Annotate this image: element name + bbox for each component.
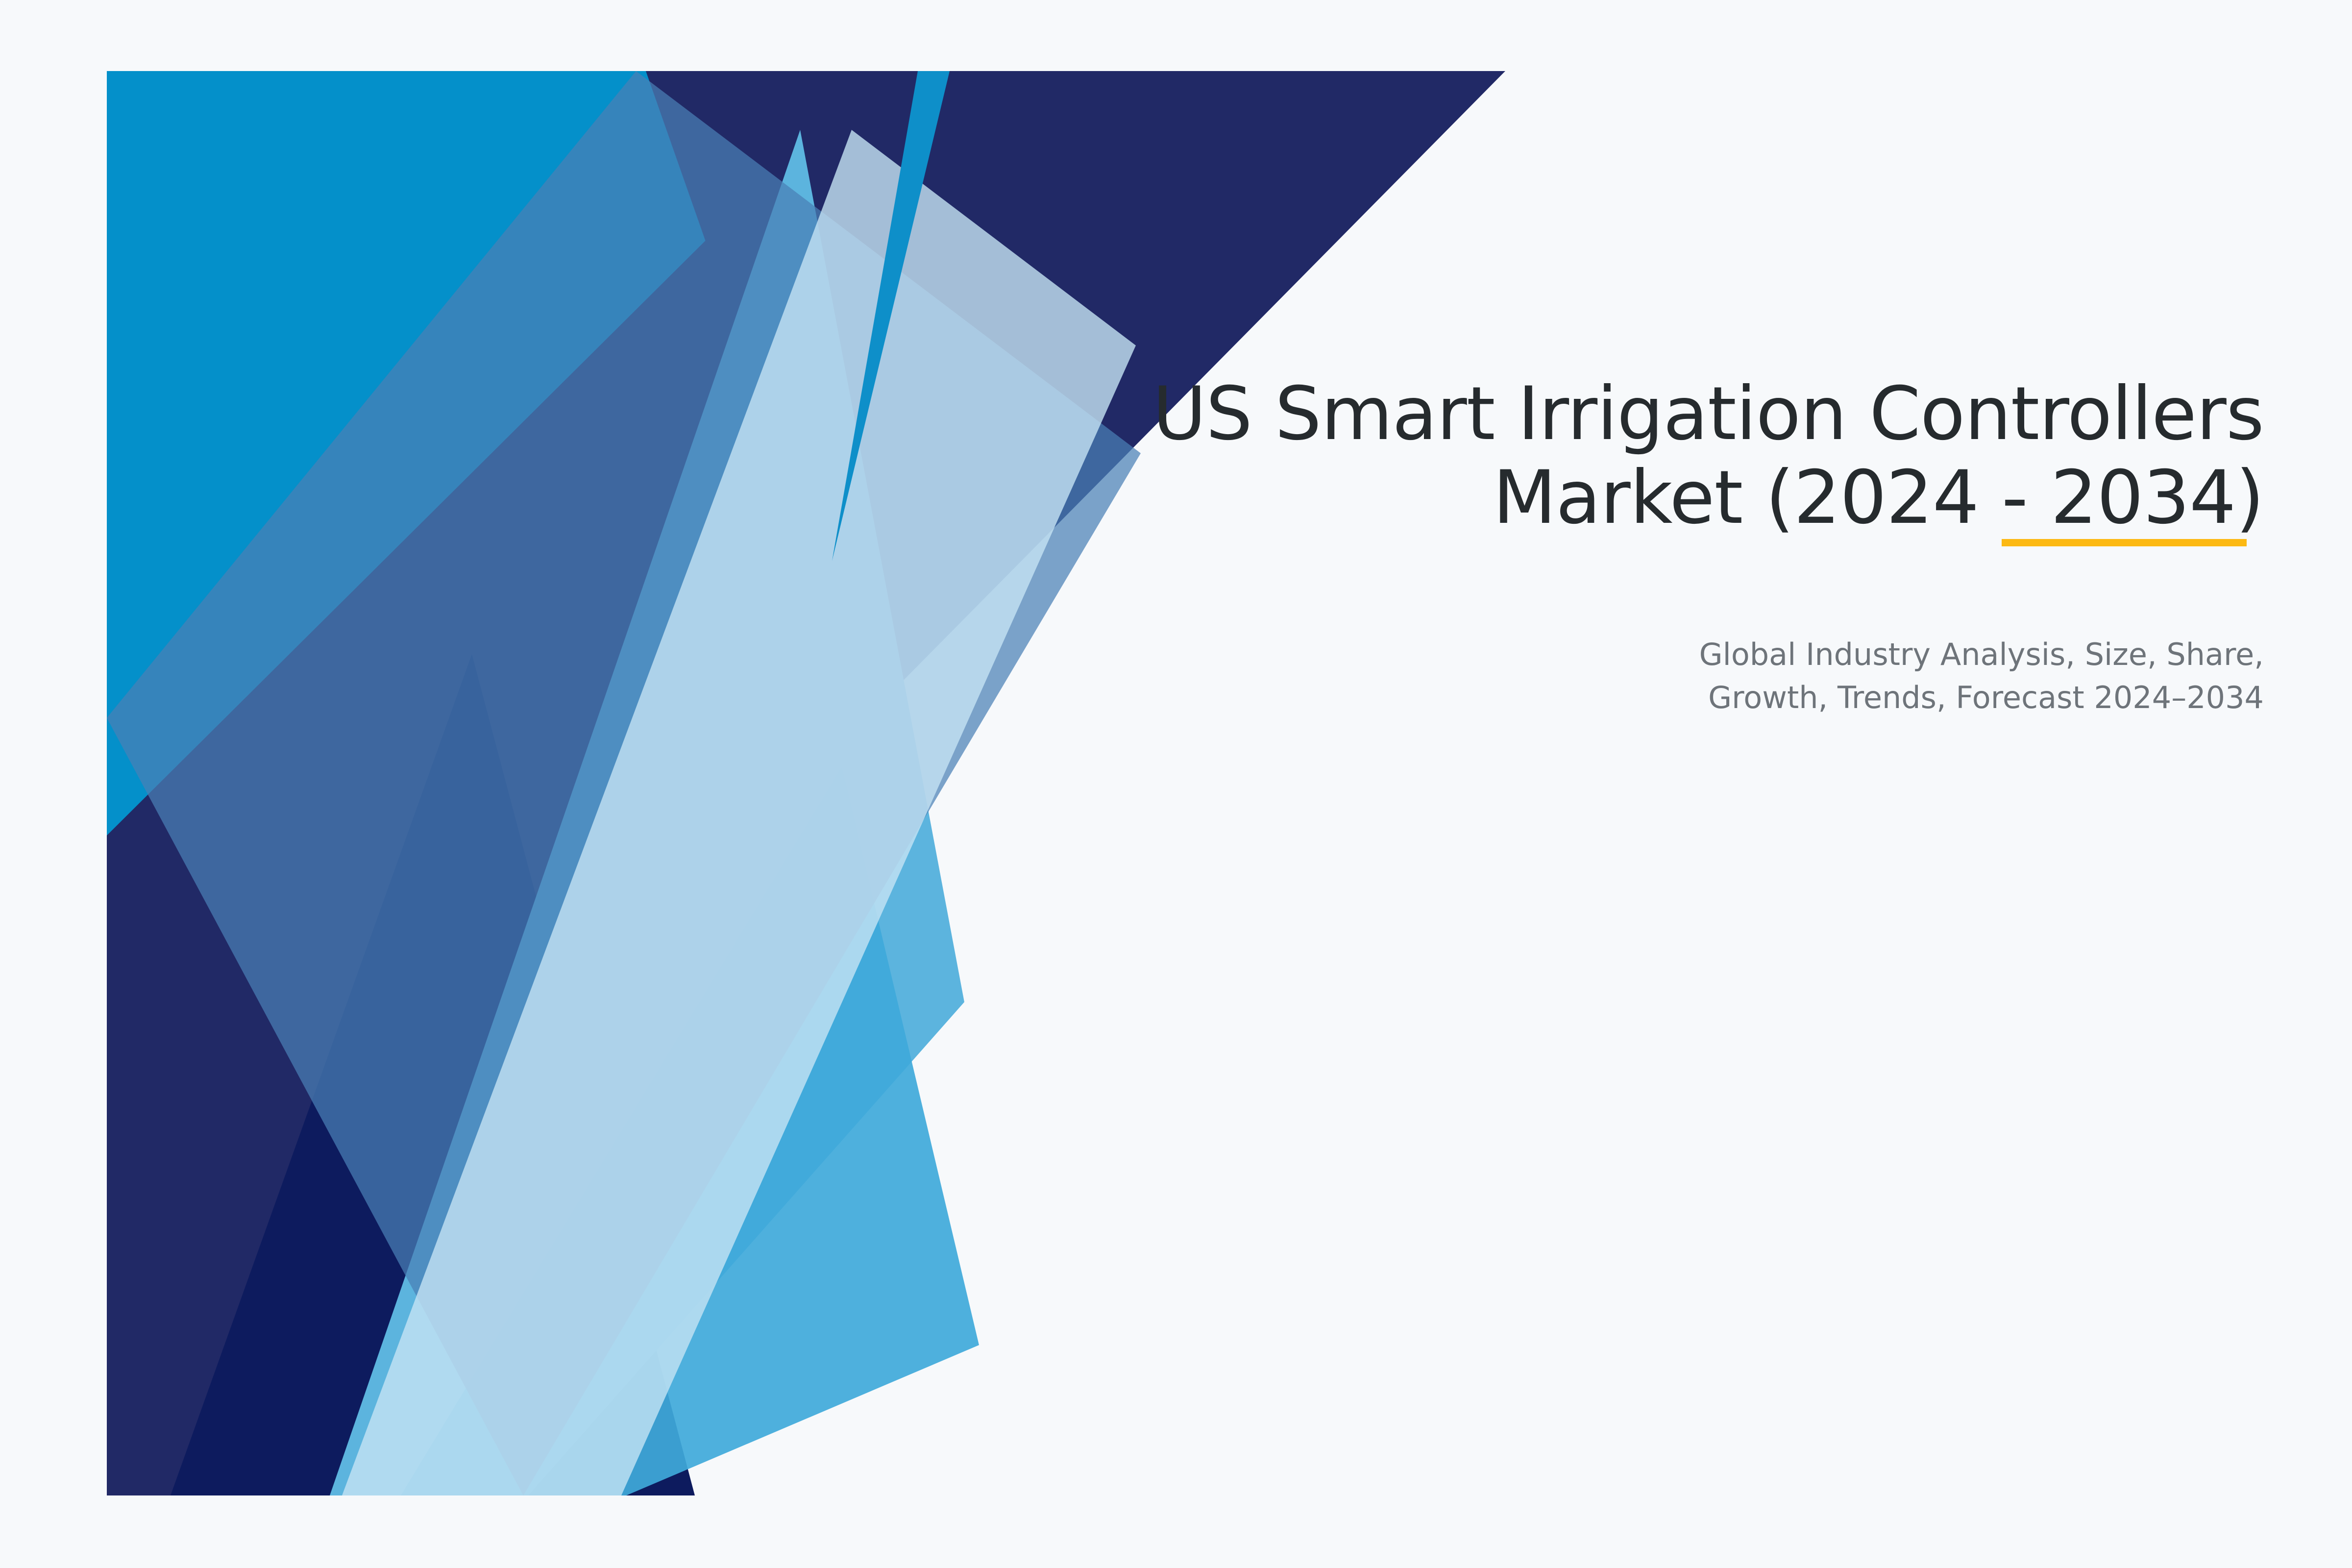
report-title-line-2-accented: 2034) bbox=[2051, 455, 2264, 540]
report-title-line-1: US Smart Irrigation Controllers bbox=[1058, 372, 2264, 456]
report-subtitle: Global Industry Analysis, Size, Share, G… bbox=[1058, 633, 2264, 719]
cover-text-block: US Smart Irrigation Controllers Market (… bbox=[1058, 372, 2264, 719]
report-title: US Smart Irrigation Controllers Market (… bbox=[1058, 372, 2264, 540]
report-subtitle-line-2: Growth, Trends, Forecast 2024–2034 bbox=[1058, 676, 2264, 719]
report-title-line-2: Market (2024 - 2034) bbox=[1058, 456, 2264, 540]
report-title-line-2-prefix: Market (2024 - bbox=[1493, 455, 2051, 540]
report-cover-page: US Smart Irrigation Controllers Market (… bbox=[0, 0, 2352, 1568]
cover-artwork bbox=[107, 71, 1508, 1495]
report-subtitle-line-1: Global Industry Analysis, Size, Share, bbox=[1058, 633, 2264, 676]
abstract-polygon-graphic bbox=[107, 71, 1508, 1495]
